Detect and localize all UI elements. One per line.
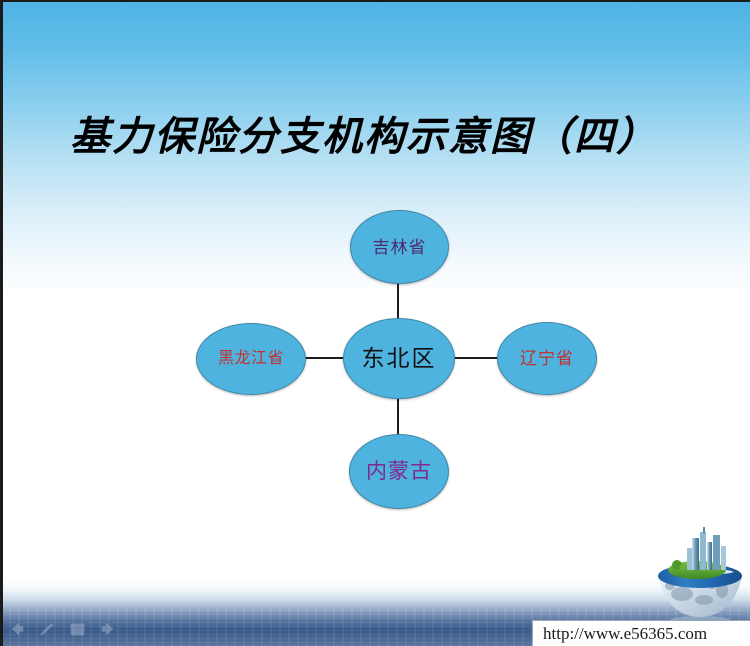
watermark-url: http://www.e56365.com bbox=[543, 624, 707, 644]
node-heilongjiang[interactable]: 黑龙江省 bbox=[196, 323, 306, 395]
org-chart-diagram: 吉林省 黑龙江省 东北区 辽宁省 内蒙古 bbox=[0, 0, 750, 646]
previous-arrow-icon[interactable] bbox=[8, 621, 27, 638]
node-neimenggu-label: 内蒙古 bbox=[366, 461, 432, 482]
node-dongbeiqu[interactable]: 东北区 bbox=[343, 318, 455, 399]
connector-center-to-top bbox=[397, 278, 399, 322]
slideshow-nav-bar[interactable] bbox=[8, 621, 117, 638]
next-arrow-icon[interactable] bbox=[98, 621, 117, 638]
connector-center-to-right bbox=[450, 357, 500, 359]
node-neimenggu[interactable]: 内蒙古 bbox=[349, 434, 449, 509]
presentation-slide: 基力保险分支机构示意图（四） 吉林省 黑龙江省 东北区 辽宁省 内蒙古 bbox=[0, 0, 750, 646]
watermark-box: http://www.e56365.com bbox=[532, 620, 750, 646]
node-liaoning-label: 辽宁省 bbox=[520, 350, 574, 367]
node-jilin[interactable]: 吉林省 bbox=[350, 210, 449, 284]
node-heilongjiang-label: 黑龙江省 bbox=[218, 351, 284, 367]
pen-icon[interactable] bbox=[38, 621, 57, 638]
slide-menu-icon[interactable] bbox=[68, 621, 87, 638]
eco-city-globe-logo-icon bbox=[644, 524, 748, 624]
node-liaoning[interactable]: 辽宁省 bbox=[497, 322, 597, 395]
node-jilin-label: 吉林省 bbox=[373, 239, 427, 256]
node-dongbeiqu-label: 东北区 bbox=[362, 347, 437, 370]
